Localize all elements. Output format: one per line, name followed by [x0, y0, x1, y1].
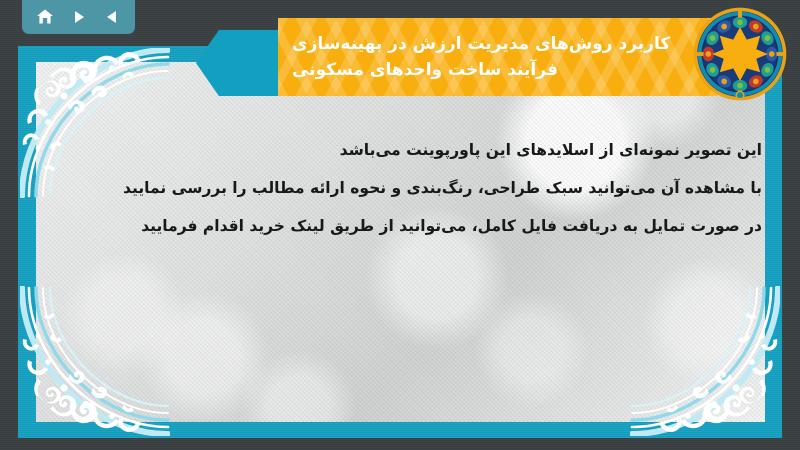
slide-title-line-2: فرآیند ساخت واحدهای مسکونی [292, 57, 558, 83]
slide-body-text: این تصویر نمونه‌ای از اسلایدهای این پاور… [102, 132, 762, 246]
home-icon [36, 8, 54, 26]
slide-navigation-bar [22, 0, 135, 34]
presentation-slide: کاربرد روش‌های مدیریت ارزش در بهینه‌سازی… [0, 0, 800, 450]
body-line-1: این تصویر نمونه‌ای از اسلایدهای این پاور… [102, 132, 762, 170]
triangle-left-icon [104, 9, 120, 25]
body-line-3: در صورت تمایل به دریافت فایل کامل، می‌تو… [102, 208, 762, 246]
previous-slide-button[interactable] [97, 4, 127, 30]
triangle-right-icon [71, 9, 87, 25]
slide-title-banner: کاربرد روش‌های مدیریت ارزش در بهینه‌سازی… [278, 18, 718, 96]
next-slide-button[interactable] [64, 4, 94, 30]
body-line-2: با مشاهده آن می‌توانید سبک طراحی، رنگ‌بن… [102, 170, 762, 208]
home-button[interactable] [30, 4, 60, 30]
slide-title-line-1: کاربرد روش‌های مدیریت ارزش در بهینه‌سازی [292, 31, 670, 57]
